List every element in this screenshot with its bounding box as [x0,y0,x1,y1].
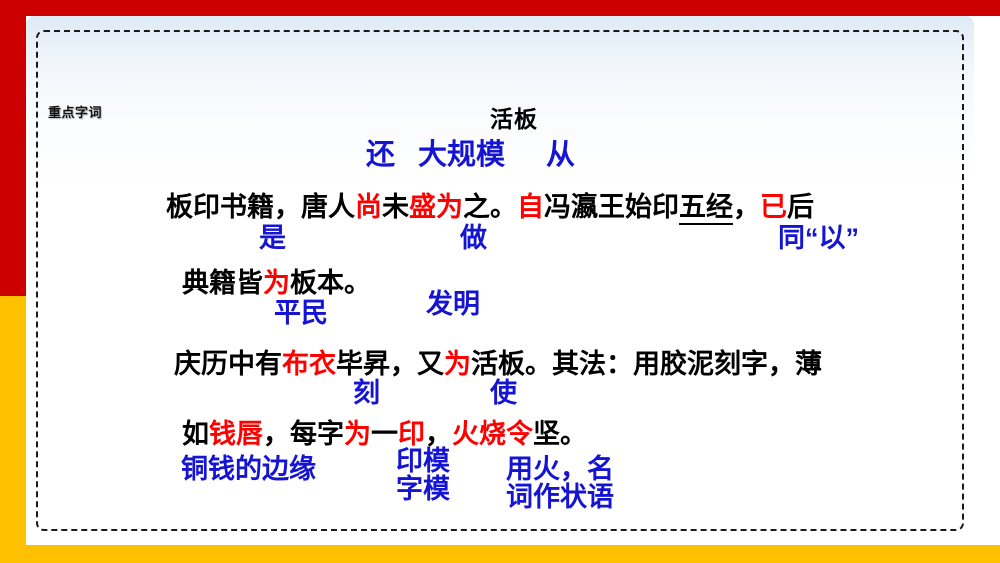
annotation-faming: 发明 [426,291,480,319]
seg-2-3: 板本。 [290,268,371,298]
annotation-yinmo: 印模 [396,448,450,476]
page-title: 活板 [490,100,538,134]
decor-bar-top-red [0,0,1000,16]
annotation-pingmin: 平民 [274,300,328,328]
annotation-tong-yi: 同“以” [778,225,859,253]
annotation-ke: 刻 [353,380,380,408]
seg-4-1: 如 [182,419,209,449]
annotation-cizuo-zhuangyu: 词作状语 [506,484,614,512]
seg-4-6: 印 [398,419,425,449]
body-line-2: 典籍皆为板本。 [182,270,371,297]
seg-4-7: ， [425,419,452,449]
decor-bar-left-red [0,0,26,296]
seg-1-5: 之。 [463,192,517,222]
seg-1-11: 后 [787,192,814,222]
decor-bar-bottom-yellow [0,545,1000,563]
seg-1-1: 板印书籍，唐人 [166,192,355,222]
seg-4-8: 火烧令 [452,419,533,449]
seg-2-2: 为 [263,268,290,298]
body-line-3: 庆历中有布衣毕昇，又为活板。其法：用胶泥刻字，薄 [174,351,822,378]
body-line-4: 如钱唇，每字为一印，火烧令坚。 [182,421,587,448]
annotation-shi: 是 [259,225,286,253]
seg-4-3: ，每字 [263,419,344,449]
seg-1-7: 冯瀛王始印 [544,192,679,222]
annotation-shi-use: 使 [490,380,517,408]
seg-2-1: 典籍皆 [182,268,263,298]
seg-4-4: 为 [344,419,371,449]
seg-1-4: 盛为 [409,192,463,222]
seg-3-1: 庆历中有 [174,349,282,379]
seg-4-9: 坚。 [533,419,587,449]
annotation-zuo: 做 [460,225,487,253]
annotation-header-huan: 还 [366,141,395,171]
seg-3-3: 毕昇，又 [336,349,444,379]
annotation-header-daguimo: 大规模 [418,141,505,171]
decor-bar-left-yellow [0,296,26,563]
body-line-1: 板印书籍，唐人尚未盛为之。自冯瀛王始印五经，已后 [166,194,814,221]
annotation-yonghuo-ming: 用火，名 [506,456,614,484]
seg-1-8: 五经 [679,192,733,225]
seg-4-5: 一 [371,419,398,449]
annotation-header-cong: 从 [546,141,575,171]
seg-1-3: 未 [382,192,409,222]
seg-1-2: 尚 [355,192,382,222]
seg-1-6: 自 [517,192,544,222]
seg-4-2: 钱唇 [209,419,263,449]
annotation-yinmo-zimo: 印模 字模 [396,448,450,503]
seg-3-5: 活板。其法：用胶泥刻字，薄 [471,349,822,379]
seg-3-4: 为 [444,349,471,379]
seg-1-10: 已 [760,192,787,222]
text-stage: 活板 还 大规模 从 板印书籍，唐人尚未盛为之。自冯瀛王始印五经，已后 是 做 … [26,16,974,545]
annotation-tongqian-debianyuan: 铜钱的边缘 [181,456,316,484]
annotation-zimo: 字模 [396,476,450,504]
seg-3-2: 布衣 [282,349,336,379]
annotation-yonghuo-mingci: 用火，名 词作状语 [506,456,614,511]
seg-1-9: ， [733,192,760,222]
slide-canvas: 重点字词 活板 还 大规模 从 板印书籍，唐人尚未盛为之。自冯瀛王始印五经，已后… [0,0,1000,563]
